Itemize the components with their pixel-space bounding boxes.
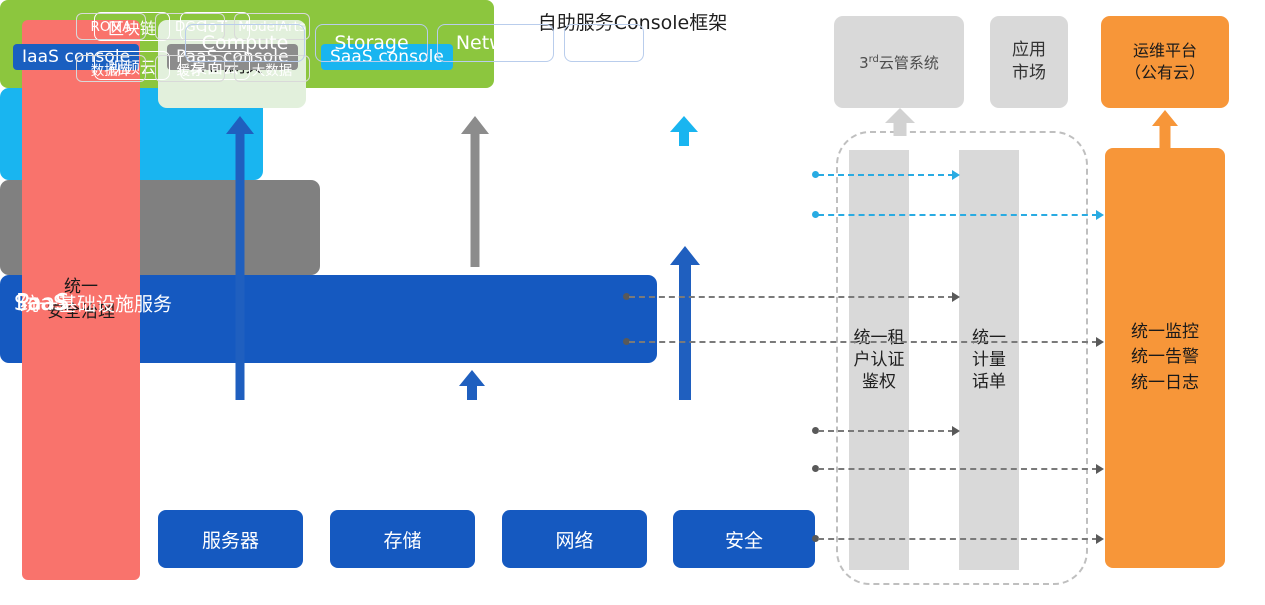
resource-box-security[interactable]: 安全 (673, 510, 815, 568)
third-party-cloud-mgmt-box: 3rd云管系统 (834, 16, 964, 108)
connector-iaas-to-metering (818, 430, 954, 432)
shared-service-auth-label: 统一租 户认证 鉴权 (854, 327, 905, 393)
connector-saas-to-metering (818, 174, 954, 176)
app-market-box: 应用 市场 (990, 16, 1068, 108)
connector-paas-to-monitoring (629, 341, 1098, 343)
connector-arrowhead-saas-monitoring (1096, 210, 1104, 220)
ops-platform-label: 运维平台 （公有云） (1125, 40, 1205, 85)
arrow-shared-to-third-party-cloud (885, 108, 915, 136)
arrow-iaas-to-paas (458, 370, 486, 400)
connector-paas-to-metering (629, 296, 954, 298)
shared-service-metering-column: 统一 计量 话单 (959, 150, 1019, 570)
architecture-diagram: 统一 安全治理 API网关 自助服务Console框架 IaaS console… (0, 0, 1265, 605)
connector-arrowhead-paas-metering (952, 292, 960, 302)
monitoring-panel: 统一监控 统一告警 统一日志 (1105, 148, 1225, 568)
arrow-paas-to-console (461, 116, 489, 267)
connector-arrowhead-iaas-metering (952, 426, 960, 436)
iaas-chip-cce[interactable]: CCE (564, 24, 644, 62)
connector-saas-to-monitoring (818, 214, 1098, 216)
resource-box-network[interactable]: 网络 (502, 510, 647, 568)
iaas-chip-compute[interactable]: Compute (185, 24, 305, 62)
connector-arrowhead-resources-monitoring (1096, 534, 1104, 544)
paas-chip-database[interactable]: 数据库 (76, 55, 146, 82)
arrow-saas-to-console (670, 116, 698, 146)
resource-box-server[interactable]: 服务器 (158, 510, 303, 568)
arrow-monitoring-to-ops-platform (1151, 110, 1179, 148)
shared-service-auth-column: 统一租 户认证 鉴权 (849, 150, 909, 570)
arrow-iaas-to-saas (671, 246, 699, 400)
connector-resources-to-monitoring (818, 538, 1098, 540)
iaas-label: 统一基础设施服务 (20, 289, 172, 316)
connector-iaas-to-monitoring (818, 468, 1098, 470)
paas-chip-roma[interactable]: ROMA (76, 13, 146, 40)
connector-arrowhead-saas-metering (952, 170, 960, 180)
monitoring-label: 统一监控 统一告警 统一日志 (1131, 320, 1199, 397)
ops-platform-box: 运维平台 （公有云） (1101, 16, 1229, 108)
shared-service-metering-label: 统一 计量 话单 (972, 327, 1006, 393)
resource-box-storage[interactable]: 存储 (330, 510, 475, 568)
iaas-chip-storage[interactable]: Storage (315, 24, 428, 62)
app-market-label: 应用 市场 (1012, 39, 1046, 85)
connector-arrowhead-iaas-monitoring (1096, 464, 1104, 474)
arrow-iaas-to-api-gateway (226, 116, 254, 400)
iaas-chip-network[interactable]: Network (437, 24, 554, 62)
third-party-cloud-mgmt-label: 3rd云管系统 (859, 52, 939, 73)
connector-arrowhead-paas-monitoring (1096, 337, 1104, 347)
